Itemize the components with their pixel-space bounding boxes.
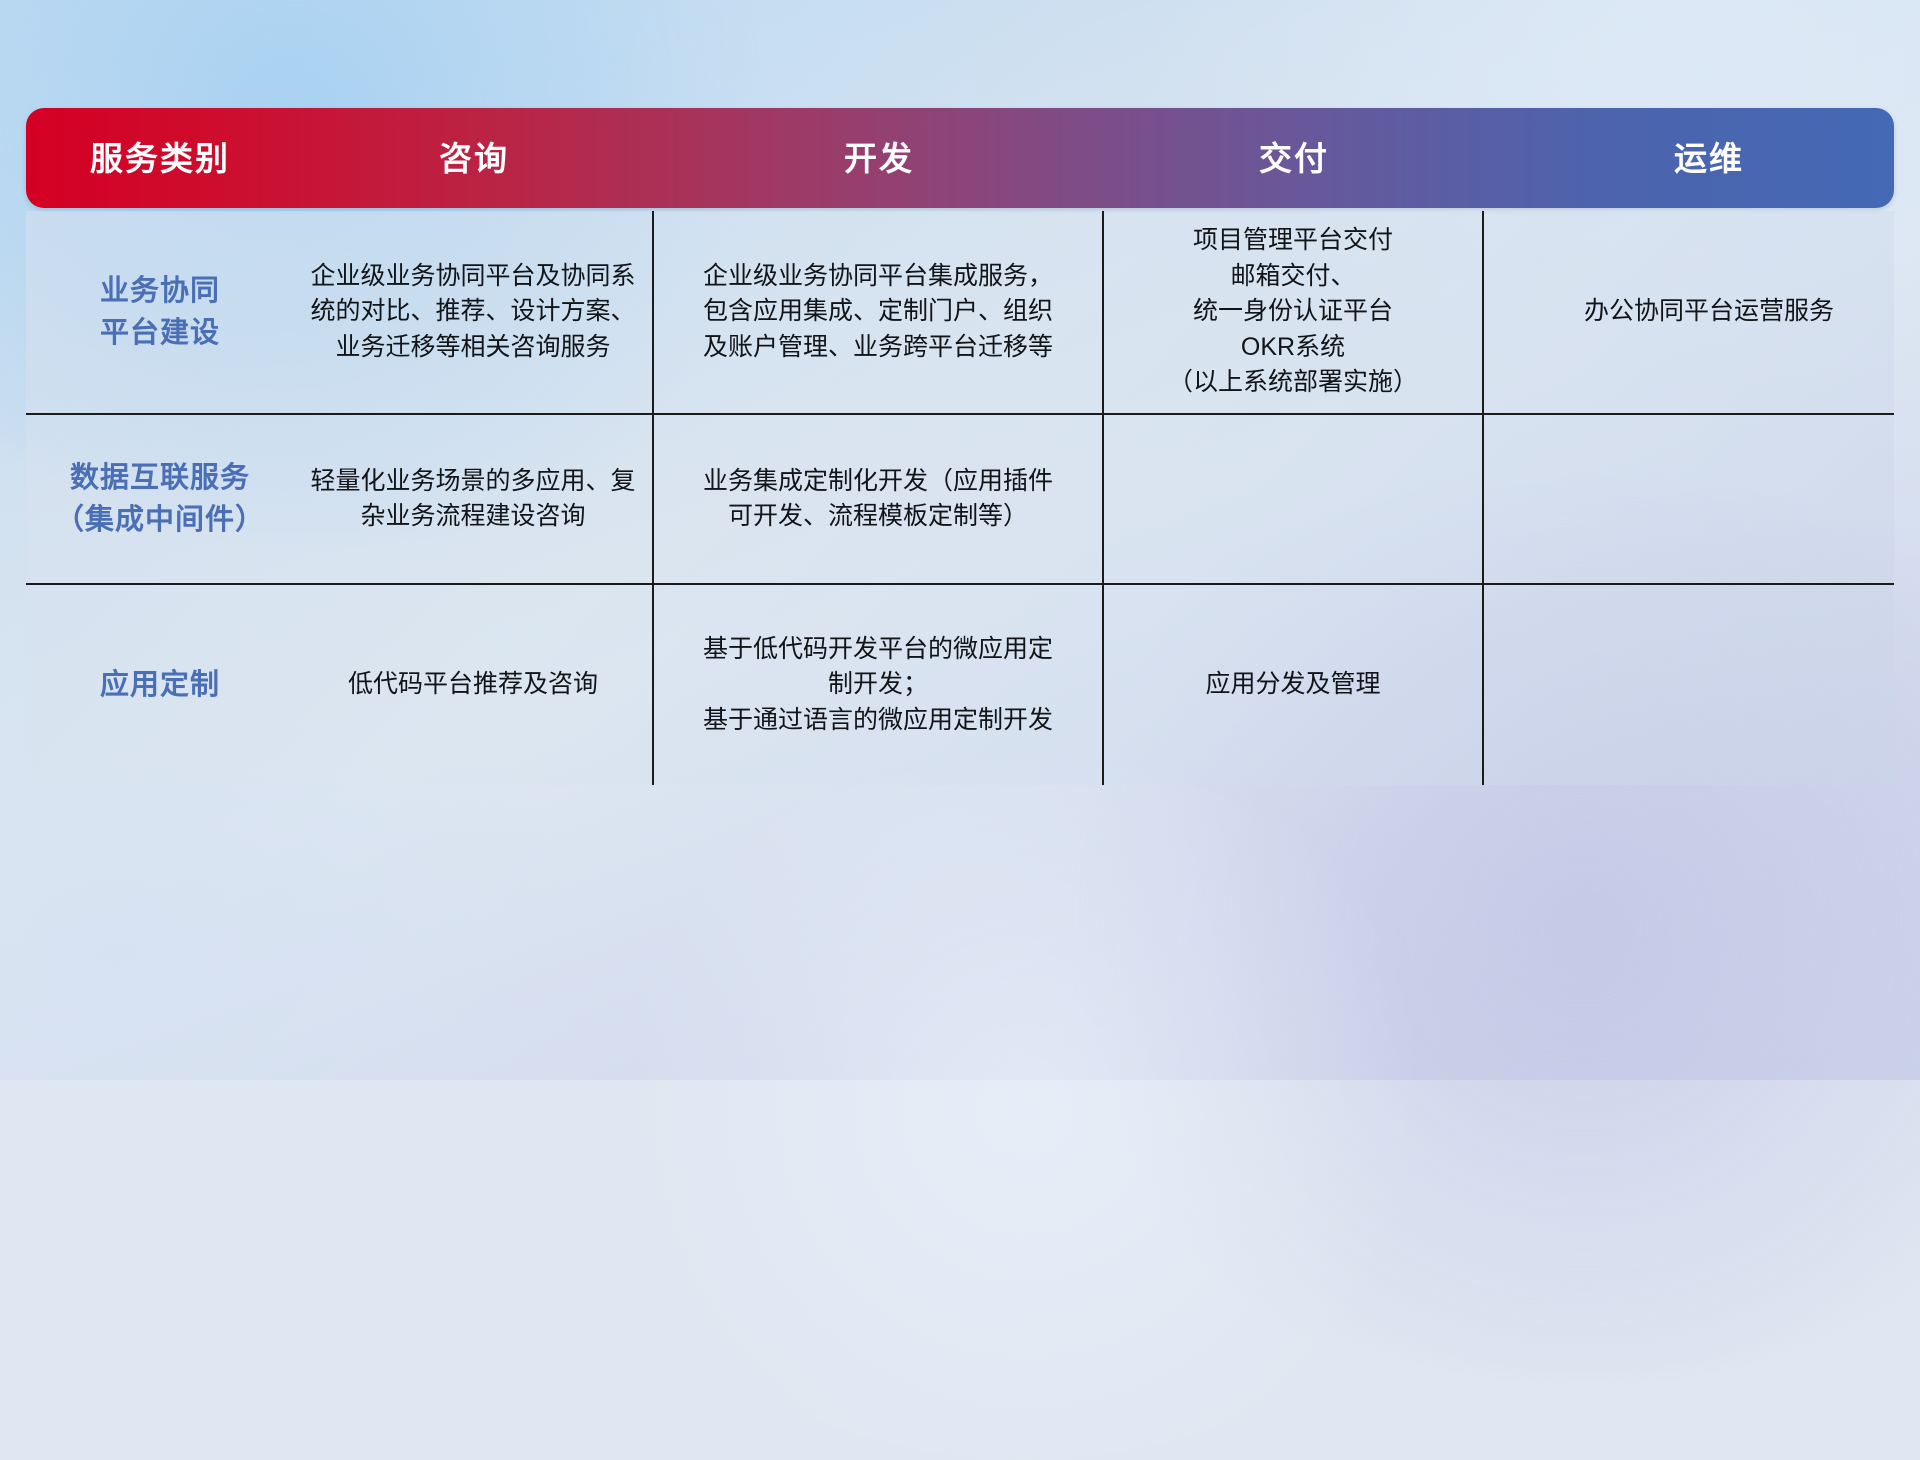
cell-delivery: [1104, 415, 1484, 583]
table-body: 业务协同 平台建设 企业级业务协同平台及协同系 统的对比、推荐、设计方案、 业务…: [26, 211, 1894, 785]
table-header-cell-development: 开发: [654, 108, 1104, 208]
service-matrix-table: 服务类别 咨询 开发 交付 运维 业务协同 平台建设 企业级业务协同平台及协同系…: [26, 108, 1894, 785]
row-category-label: 业务协同 平台建设: [26, 211, 294, 413]
cell-operations: [1484, 415, 1920, 583]
table-row: 数据互联服务 （集成中间件） 轻量化业务场景的多应用、复 杂业务流程建设咨询 业…: [26, 415, 1894, 585]
cell-delivery: 应用分发及管理: [1104, 585, 1484, 785]
cell-operations: 办公协同平台运营服务: [1484, 211, 1920, 413]
row-category-label: 应用定制: [26, 585, 294, 785]
table-header-cell-delivery: 交付: [1104, 108, 1484, 208]
table-header-row: 服务类别 咨询 开发 交付 运维: [26, 108, 1894, 208]
cell-development: 企业级业务协同平台集成服务， 包含应用集成、定制门户、组织 及账户管理、业务跨平…: [654, 211, 1104, 413]
cell-consulting: 轻量化业务场景的多应用、复 杂业务流程建设咨询: [294, 415, 654, 583]
cell-development: 业务集成定制化开发（应用插件 可开发、流程模板定制等）: [654, 415, 1104, 583]
cell-development: 基于低代码开发平台的微应用定 制开发； 基于通过语言的微应用定制开发: [654, 585, 1104, 785]
table-header-cell-consulting: 咨询: [294, 108, 654, 208]
cell-operations: [1484, 585, 1920, 785]
cell-consulting: 企业级业务协同平台及协同系 统的对比、推荐、设计方案、 业务迁移等相关咨询服务: [294, 211, 654, 413]
table-row: 业务协同 平台建设 企业级业务协同平台及协同系 统的对比、推荐、设计方案、 业务…: [26, 211, 1894, 415]
row-category-label: 数据互联服务 （集成中间件）: [26, 415, 294, 583]
table-header-cell-operations: 运维: [1484, 108, 1894, 208]
cell-consulting: 低代码平台推荐及咨询: [294, 585, 654, 785]
table-row: 应用定制 低代码平台推荐及咨询 基于低代码开发平台的微应用定 制开发； 基于通过…: [26, 585, 1894, 785]
cell-delivery: 项目管理平台交付 邮箱交付、 统一身份认证平台 OKR系统 （以上系统部署实施）: [1104, 211, 1484, 413]
table-header-cell-category: 服务类别: [26, 108, 294, 208]
background-glow-bottom-center: [576, 760, 1476, 1460]
